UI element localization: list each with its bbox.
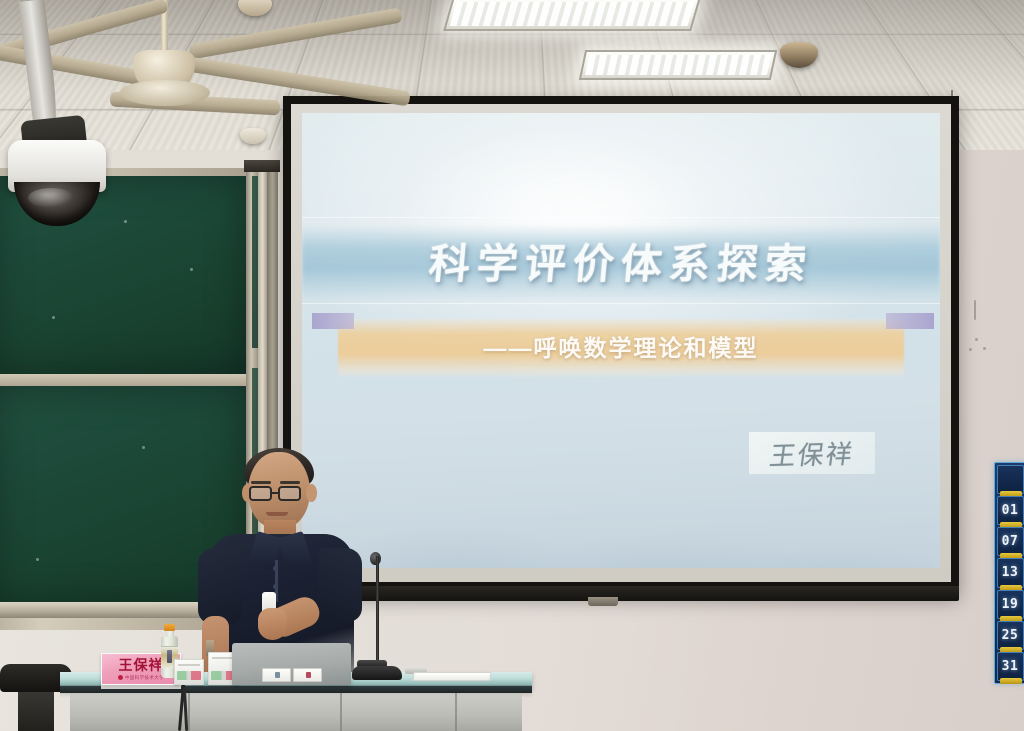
placard-organization-text: 中国科学技术大学 [125,675,164,680]
small-box[interactable] [174,659,204,685]
wall-mark [974,300,976,320]
presenter-ear [306,484,317,502]
desk-label-icon [275,672,280,678]
placard-logo-icon [118,675,123,680]
presenter-eyebrow [251,481,271,484]
seat-number-label: 31 [1002,659,1019,674]
seat-number-cell[interactable] [997,465,1024,494]
presenter-sleeve [198,548,242,624]
wall-mark [975,338,978,341]
wall-mark [969,348,972,351]
slide-title: 科学评价体系探索 [302,229,940,299]
glasses-bridge [272,492,280,494]
papers-stack[interactable] [413,672,492,681]
presenter-sleeve [318,548,362,622]
microphone-base[interactable] [352,666,402,680]
slide-subtitle: ——呼唤数学理论和模型 [338,323,904,373]
seat-number-label: 19 [1002,597,1019,612]
chair-base [18,690,54,731]
presenter-eyebrow [280,481,300,484]
presenter-hand [258,608,287,640]
glasses-icon [249,486,272,501]
desk-label-card[interactable] [293,668,322,682]
seat-number-label: 13 [1002,565,1019,580]
rail-end-cap [244,160,280,172]
placard-organization: 中国科学技术大学 [118,674,164,681]
seat-number-panel[interactable]: 01 07 13 19 25 31 [994,462,1024,684]
bottle-cap-icon [164,624,175,631]
seat-number-label: 01 [1002,503,1019,518]
seat-number-cell[interactable]: 25 [997,621,1024,650]
placard-name-text: 王保祥 [119,658,164,674]
mountain-watermark [308,458,933,568]
desk-panel-seam [188,693,190,731]
seat-number-cell[interactable]: 13 [997,558,1024,587]
desk-label-card[interactable] [262,668,291,682]
screen-pull-tab[interactable] [588,597,618,606]
seat-number-label: 25 [1002,628,1019,643]
fluorescent-light-icon [443,0,701,31]
seat-number-label: 07 [1002,534,1019,549]
seat-number-cell[interactable]: 01 [997,496,1024,525]
presentation-slide[interactable]: 科学评价体系探索 ——呼唤数学理论和模型 王保祥 [302,113,940,568]
shirt-button [273,566,278,571]
screen-weight-bar [283,586,959,601]
placard-stand [101,685,181,689]
box-print-band [177,671,201,680]
microphone-gooseneck [376,556,379,664]
seat-number-cell[interactable]: 31 [997,652,1024,681]
seat-number-cell[interactable]: 19 [997,590,1024,619]
laptop[interactable] [232,643,351,685]
presenter-mouth [266,512,288,516]
glasses-icon [278,486,301,501]
wall-mark [983,347,986,350]
desk-label-text [304,673,305,677]
seat-number-cell[interactable]: 07 [997,527,1024,556]
fluorescent-light-icon [579,50,777,80]
lecture-hall-scene: 科学评价体系探索 ——呼唤数学理论和模型 王保祥 01 07 13 19 [0,0,1024,731]
box-print-line [178,664,200,666]
desk-label-text [273,673,274,677]
desk-panel-seam [340,693,342,731]
shirt-button [273,584,278,589]
fan-hub-plate [120,80,210,106]
desk-panel-seam [455,693,457,731]
bottle-neck [166,631,174,637]
bottle-label-graphic [167,650,172,663]
slide-subtitle-group: ——呼唤数学理论和模型 [338,311,904,383]
desk-label-icon [306,672,311,678]
